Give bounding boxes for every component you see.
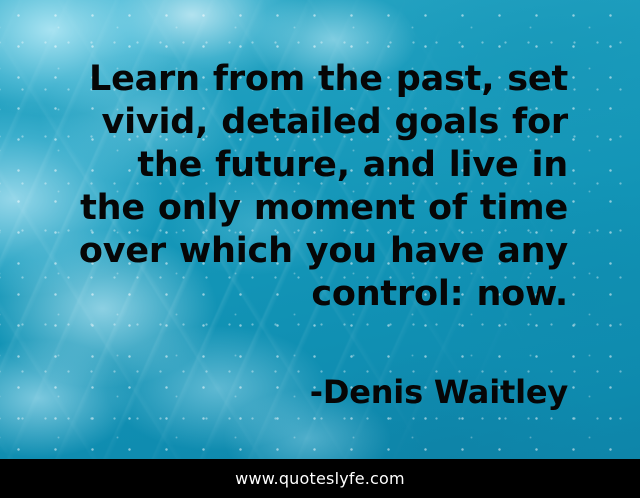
quote-line-1: Learn from the past, set xyxy=(0,58,568,101)
quote-line-3: the future, and live in xyxy=(0,144,568,187)
footer-website-label: www.quoteslyfe.com xyxy=(235,469,405,488)
quote-line-6: control: now. xyxy=(0,273,568,316)
quote-text-block: Learn from the past, set vivid, detailed… xyxy=(0,58,568,316)
quote-card: Learn from the past, set vivid, detailed… xyxy=(0,0,640,498)
quote-line-2: vivid, detailed goals for xyxy=(0,101,568,144)
quote-line-5: over which you have any xyxy=(0,230,568,273)
footer-bar: www.quoteslyfe.com xyxy=(0,459,640,498)
quote-line-4: the only moment of time xyxy=(0,187,568,230)
quote-attribution: -Denis Waitley xyxy=(0,372,568,412)
